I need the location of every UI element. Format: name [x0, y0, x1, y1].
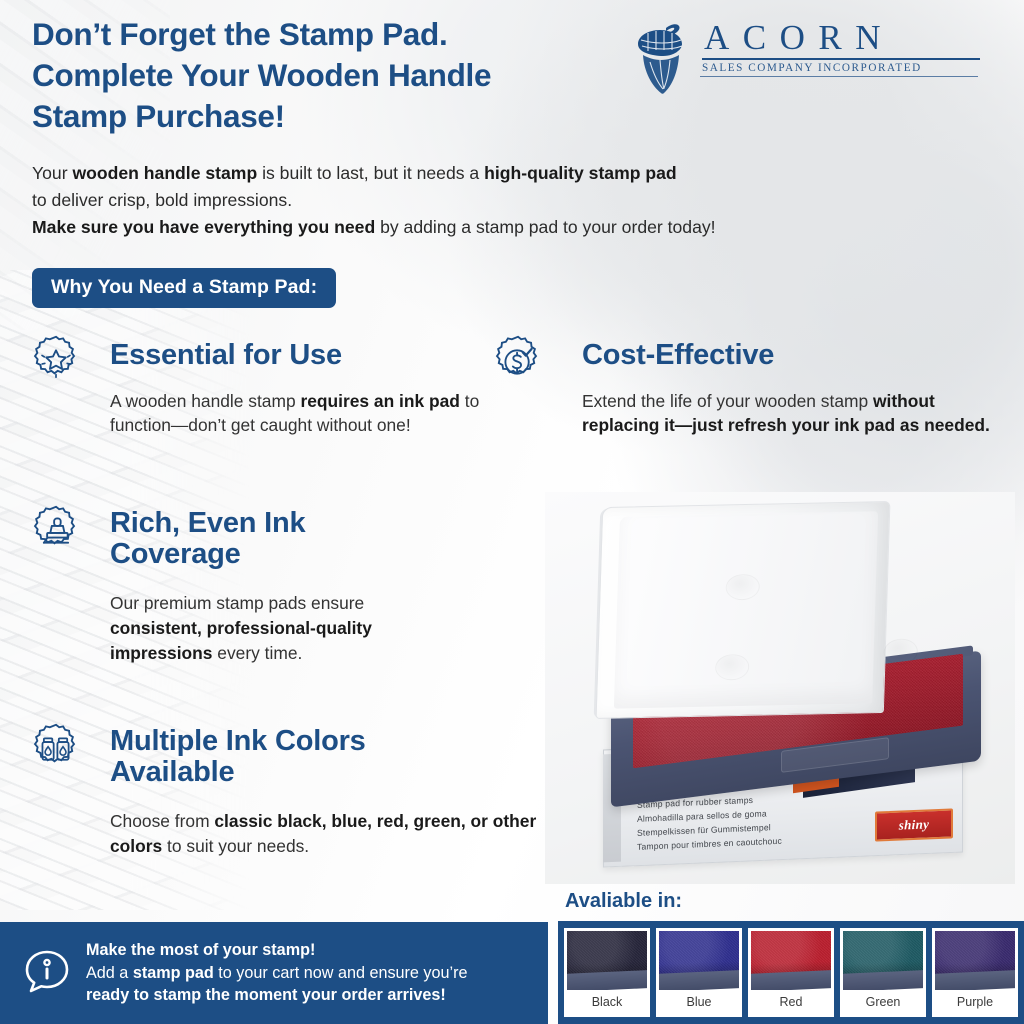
swatch-label: Blue	[659, 990, 739, 1014]
swatch-pad-color	[567, 931, 647, 975]
shiny-brand-logo: shiny	[875, 808, 953, 841]
swatch-pad-color	[751, 931, 831, 975]
feature-title-essential: Essential for Use	[110, 334, 498, 371]
badge-ink-bottles-icon	[28, 722, 84, 778]
color-swatch-red[interactable]: Red	[748, 928, 834, 1017]
logo-word: ACORN	[700, 18, 982, 57]
feature-essential-for-use: Essential for Use A wooden handle stamp …	[28, 334, 498, 438]
footer-cta-bar: Make the most of your stamp! Add a stamp…	[0, 922, 548, 1024]
swatch-case	[659, 970, 739, 990]
feature-title-line-2: Available	[110, 757, 538, 788]
logo-rule-bottom	[700, 76, 978, 77]
color-swatch-black[interactable]: Black	[564, 928, 650, 1017]
badge-star-icon	[28, 334, 84, 390]
feature-body-text: Our premium stamp pads ensure	[110, 593, 364, 613]
acorn-icon	[630, 22, 692, 96]
feature-title-line-1: Multiple Ink Colors	[110, 726, 538, 757]
headline-line-2: Complete Your Wooden Handle	[32, 55, 672, 96]
feature-title-cost-effective: Cost-Effective	[582, 334, 1010, 371]
brand-logo: ACORN SALES COMPANY INCORPORATED	[622, 18, 984, 96]
color-swatch-green[interactable]: Green	[840, 928, 926, 1017]
color-swatch-purple[interactable]: Purple	[932, 928, 1018, 1017]
feature-body-text-tail: to suit your needs.	[162, 836, 309, 856]
swatch-case	[843, 970, 923, 990]
available-in-label: Avaliable in:	[565, 890, 682, 913]
feature-body-text: Extend the life of your wooden stamp	[582, 391, 873, 411]
footer-line-1: Make the most of your stamp!	[86, 941, 315, 959]
feature-title-rich-even-ink: Rich, Even Ink Coverage	[110, 504, 448, 569]
feature-body-rich-even-ink: Our premium stamp pads ensure consistent…	[110, 591, 448, 665]
swatch-image	[935, 931, 1015, 990]
swatch-case	[935, 970, 1015, 990]
swatch-image	[843, 931, 923, 990]
intro-line-2: to deliver crisp, bold impressions.	[32, 187, 912, 214]
footer-bold-stamp-pad: stamp pad	[133, 964, 214, 982]
color-swatch-blue[interactable]: Blue	[656, 928, 742, 1017]
footer-text-a: Add a	[86, 964, 133, 982]
swatch-pad-color	[935, 931, 1015, 975]
badge-dollar-check-icon	[490, 334, 546, 390]
intro-bold-high-quality-stamp-pad: high-quality stamp pad	[484, 163, 677, 183]
footer-text-c: to your cart now and ensure you’re	[214, 964, 468, 982]
feature-body-text-tail: every time.	[212, 643, 302, 663]
swatch-image	[567, 931, 647, 990]
shiny-brand-text: shiny	[899, 816, 929, 833]
feature-body-cost-effective: Extend the life of your wooden stamp wit…	[582, 389, 1010, 438]
feature-title-line-1: Rich, Even Ink	[110, 508, 448, 539]
swatch-case	[751, 970, 831, 990]
badge-stamp-icon	[28, 504, 84, 560]
swatch-pad-color	[843, 931, 923, 975]
swatch-case	[567, 970, 647, 990]
feature-rich-even-ink-coverage: Rich, Even Ink Coverage Our premium stam…	[28, 504, 448, 666]
intro-bold-make-sure: Make sure you have everything you need	[32, 217, 375, 237]
footer-line-3: ready to stamp the moment your order arr…	[86, 986, 446, 1004]
feature-body-essential: A wooden handle stamp requires an ink pa…	[110, 389, 498, 438]
feature-title-line-2: Coverage	[110, 539, 448, 570]
swatch-image	[659, 931, 739, 990]
logo-subtitle: SALES COMPANY INCORPORATED	[700, 62, 982, 74]
product-photo: Stamp pad for rubber stamps Almohadilla …	[545, 492, 1015, 884]
feature-title-multiple-ink-colors: Multiple Ink Colors Available	[110, 722, 538, 787]
intro-text-tail: by adding a stamp pad to your order toda…	[375, 217, 715, 237]
stamp-pad-lid-inner	[614, 511, 878, 708]
headline-line-1: Don’t Forget the Stamp Pad.	[32, 14, 672, 55]
feature-body-text: A wooden handle stamp	[110, 391, 300, 411]
color-swatch-list: Black Blue Red Green	[558, 921, 1024, 1024]
swatch-label: Red	[751, 990, 831, 1014]
swatch-pad-color	[659, 931, 739, 975]
info-bubble-icon	[22, 948, 72, 998]
feature-body-bold: requires an ink pad	[300, 391, 459, 411]
swatch-label: Green	[843, 990, 923, 1014]
swatch-image	[751, 931, 831, 990]
intro-line-1: Your wooden handle stamp is built to las…	[32, 160, 912, 187]
feature-body-text: Choose from	[110, 811, 214, 831]
intro-text-c: is built to last, but it needs a	[257, 163, 484, 183]
swatch-label: Purple	[935, 990, 1015, 1014]
logo-wordmark: ACORN SALES COMPANY INCORPORATED	[700, 18, 982, 77]
feature-body-multiple-ink-colors: Choose from classic black, blue, red, gr…	[110, 809, 538, 858]
intro-line-3: Make sure you have everything you need b…	[32, 214, 912, 241]
logo-rule-top	[702, 58, 980, 60]
footer-line-2: Add a stamp pad to your cart now and ens…	[86, 962, 468, 985]
feature-cost-effective: Cost-Effective Extend the life of your w…	[490, 334, 1010, 438]
page-title: Don’t Forget the Stamp Pad. Complete You…	[32, 14, 672, 137]
headline-line-3: Stamp Purchase!	[32, 96, 672, 137]
header: Don’t Forget the Stamp Pad. Complete You…	[32, 14, 992, 137]
swatch-label: Black	[567, 990, 647, 1014]
intro-text-a: Your	[32, 163, 72, 183]
footer-cta-text: Make the most of your stamp! Add a stamp…	[86, 939, 468, 1007]
intro-bold-wooden-handle-stamp: wooden handle stamp	[72, 163, 257, 183]
section-heading-badge: Why You Need a Stamp Pad:	[32, 268, 336, 308]
intro-paragraph: Your wooden handle stamp is built to las…	[32, 160, 912, 241]
lid-dimple	[725, 574, 760, 601]
lid-dimple	[715, 654, 750, 681]
feature-multiple-ink-colors: Multiple Ink Colors Available Choose fro…	[28, 722, 538, 859]
